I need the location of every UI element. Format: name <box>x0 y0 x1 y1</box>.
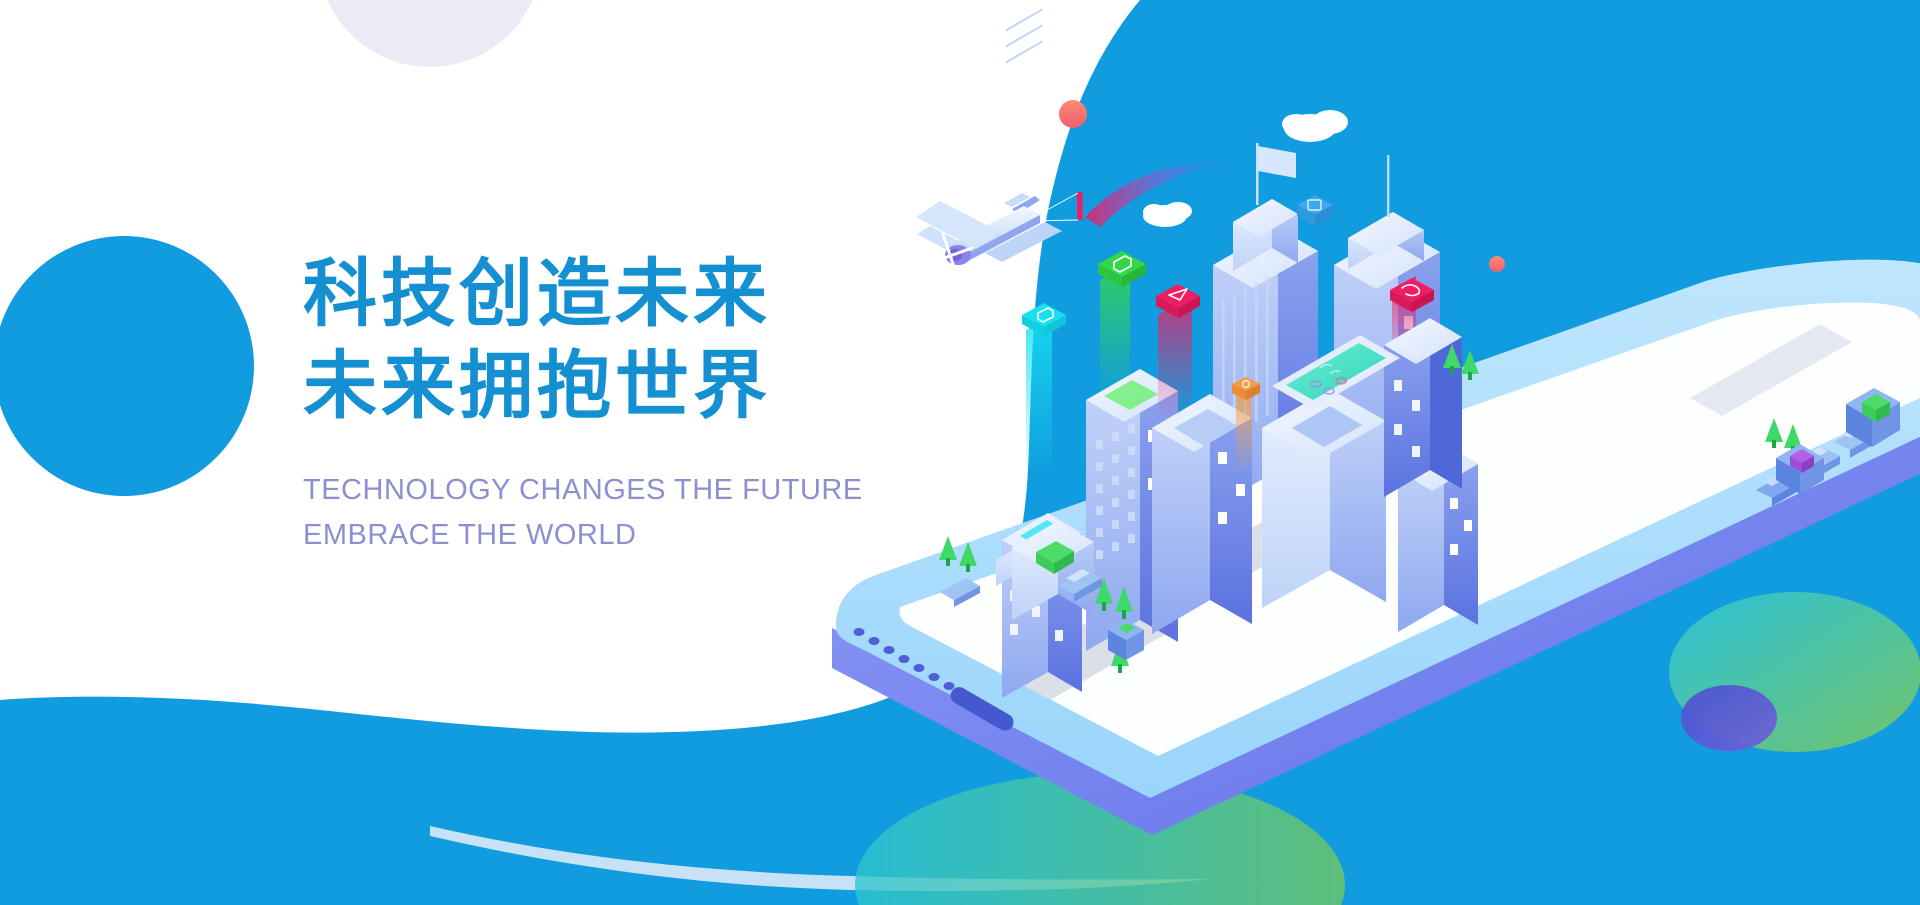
subheadline-line-2: EMBRACE THE WORLD <box>303 513 863 558</box>
subheadline-block: TECHNOLOGY CHANGES THE FUTURE EMBRACE TH… <box>303 468 863 558</box>
technology-hero-banner: 科技创造未来 未来拥抱世界 TECHNOLOGY CHANGES THE FUT… <box>0 0 1920 905</box>
blue-accent-circle <box>0 236 254 496</box>
hero-copy-block: 科技创造未来 未来拥抱世界 TECHNOLOGY CHANGES THE FUT… <box>303 248 863 558</box>
subheadline-line-1: TECHNOLOGY CHANGES THE FUTURE <box>303 468 863 513</box>
purple-accent-ellipse <box>1681 685 1777 751</box>
background-layer <box>0 0 1920 905</box>
headline-line-2: 未来拥抱世界 <box>303 340 863 432</box>
headline-line-1: 科技创造未来 <box>303 248 863 340</box>
